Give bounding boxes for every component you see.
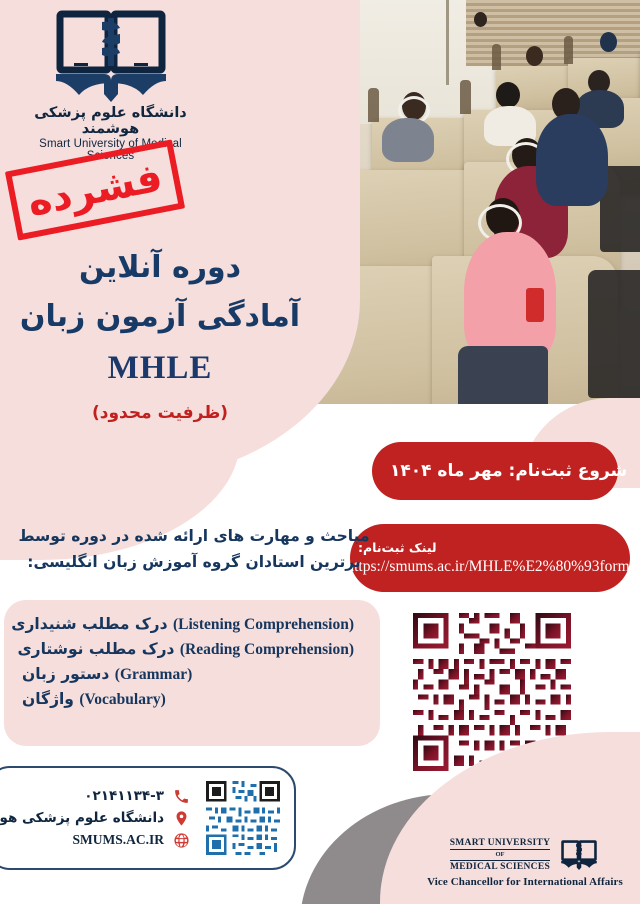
poster-root: دانشگاه علوم پزشکی هوشمند Smart Universi… — [0, 0, 640, 904]
skill-label-en: (Reading Comprehension) — [180, 641, 354, 658]
registration-link-badge[interactable]: لینک ثبت‌نام: https://smums.ac.ir/MHLE%E… — [350, 524, 630, 592]
chair — [588, 270, 640, 398]
globe-icon — [173, 832, 190, 849]
contact-card: ۰۲۱۴۱۱۳۴-۳ دانشگاه علوم پزشکی هوشمند SMU… — [0, 766, 296, 870]
footer-logo-rule-top — [450, 849, 551, 850]
footer-logo-subtitle: Vice Chancellor for International Affair… — [420, 876, 630, 888]
skill-label-en: (Listening Comprehension) — [173, 616, 354, 633]
student-head — [474, 12, 487, 27]
student-body — [536, 114, 608, 206]
title-line-1: دوره آنلاین — [0, 250, 320, 285]
skills-box: (Listening Comprehension) درک مطلب شنیدا… — [4, 600, 380, 746]
title-capacity-note: (ظرفیت محدود) — [0, 403, 320, 423]
footer-logo-rule-bottom — [450, 860, 551, 861]
contact-phone-row: ۰۲۱۴۱۱۳۴-۳ — [0, 788, 190, 805]
footer-logo: SMART UNIVERSITY OF MEDICAL SCIENCES Vic… — [420, 837, 630, 888]
title-exam-name: MHLE — [0, 350, 320, 387]
footer-logo-row: SMART UNIVERSITY OF MEDICAL SCIENCES — [420, 837, 630, 873]
registration-link-url[interactable]: https://smums.ac.ir/MHLE%E2%80%93form — [346, 558, 629, 576]
carrel-divider — [460, 80, 471, 114]
open-book-caduceus-icon — [558, 837, 600, 873]
carrel-divider — [492, 44, 501, 70]
skill-label-fa: درک مطلب شنیداری — [11, 615, 167, 633]
skill-label-fa: دستور زبان — [22, 665, 109, 683]
footer-logo-line-1: SMART UNIVERSITY — [450, 838, 551, 849]
skill-item: (Vocabulary) واژگان — [22, 687, 354, 712]
registration-start-badge: شروع ثبت‌نام: مهر ماه ۱۴۰۴ — [372, 442, 618, 500]
poster-title: دوره آنلاین آمادگی آزمون زبان MHLE (ظرفی… — [0, 250, 320, 423]
contact-website[interactable]: SMUMS.AC.IR — [72, 832, 164, 848]
footer-logo-text: SMART UNIVERSITY OF MEDICAL SCIENCES — [450, 838, 551, 873]
contact-qr-code[interactable] — [206, 781, 280, 855]
title-line-2: آمادگی آزمون زبان — [0, 299, 320, 334]
university-logo: دانشگاه علوم پزشکی هوشمند Smart Universi… — [18, 8, 203, 162]
phone-icon — [173, 788, 190, 805]
student-head — [600, 32, 617, 52]
photo-door-frame — [446, 0, 449, 85]
contact-location: دانشگاه علوم پزشکی هوشمند — [0, 810, 164, 826]
student-body — [382, 118, 434, 162]
skill-item: (Grammar) دستور زبان — [22, 662, 354, 687]
contact-qr-code-graphic — [206, 781, 280, 855]
course-description-line-1: مباحث و مهارت های ارائه شده در دوره توسط — [14, 524, 374, 550]
university-name-fa: دانشگاه علوم پزشکی هوشمند — [18, 105, 203, 137]
contact-website-row[interactable]: SMUMS.AC.IR — [0, 832, 190, 849]
carrel-divider — [564, 36, 573, 64]
footer-logo-line-2: OF — [450, 851, 551, 858]
open-book-caduceus-icon — [46, 8, 176, 103]
skill-label-en: (Vocabulary) — [79, 691, 165, 708]
registration-start-label: شروع ثبت‌نام: مهر ماه ۱۴۰۴ — [390, 461, 627, 481]
student-head — [496, 82, 520, 108]
contact-location-row: دانشگاه علوم پزشکی هوشمند — [0, 810, 190, 827]
skill-item: (Reading Comprehension) درک مطلب نوشتاری — [22, 637, 354, 662]
footer-logo-line-3: MEDICAL SCIENCES — [450, 862, 551, 873]
carrel-divider — [368, 88, 379, 122]
map-pin-icon — [173, 810, 190, 827]
skill-label-fa: واژگان — [22, 690, 74, 708]
contact-details: ۰۲۱۴۱۱۳۴-۳ دانشگاه علوم پزشکی هوشمند SMU… — [0, 788, 190, 849]
student-badge — [526, 288, 544, 322]
course-description: مباحث و مهارت های ارائه شده در دوره توسط… — [14, 524, 374, 575]
skill-label-en: (Grammar) — [115, 666, 192, 683]
student-head — [526, 46, 543, 66]
skill-item: (Listening Comprehension) درک مطلب شنیدا… — [22, 612, 354, 637]
contact-phone: ۰۲۱۴۱۱۳۴-۳ — [84, 788, 164, 804]
skill-label-fa: درک مطلب نوشتاری — [17, 640, 174, 658]
course-description-line-2: برترین استادان گروه آموزش زبان انگلیسی: — [14, 550, 374, 576]
